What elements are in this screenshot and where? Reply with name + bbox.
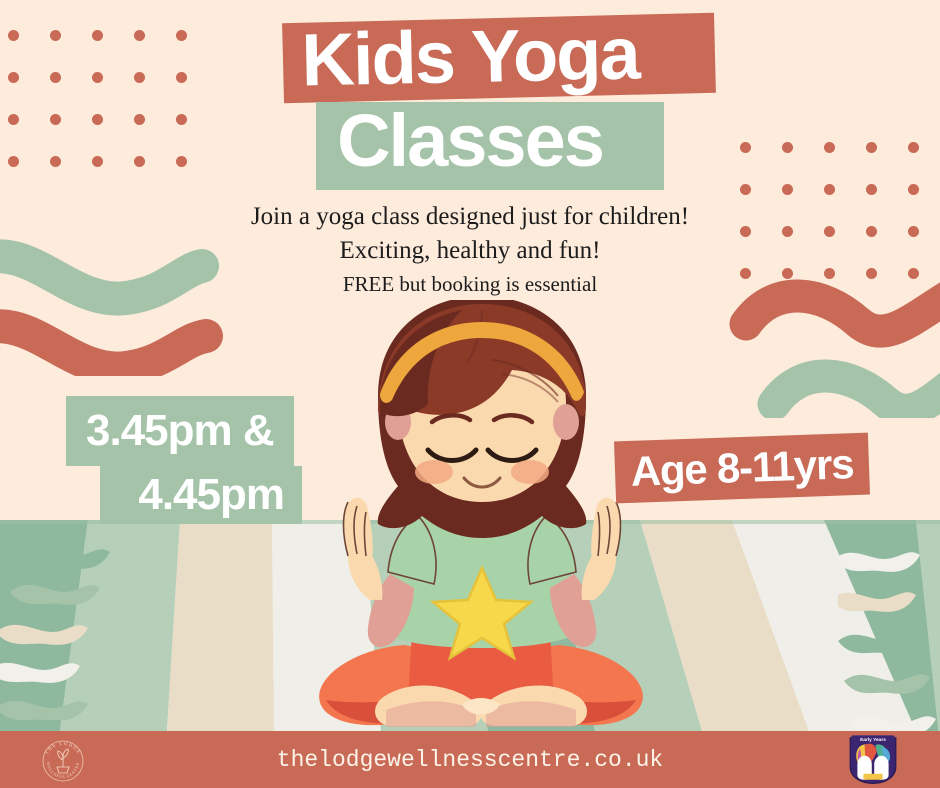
early-years-partner-logo: Early Years [842, 727, 904, 787]
early-years-logo-text: Early Years [860, 737, 886, 743]
class-time-badge-first: 3.45pm & [66, 396, 294, 466]
age-range-badge: Age 8-11yrs [614, 433, 870, 504]
mat-stripe [166, 520, 274, 745]
poster-canvas: .ln { stroke:#6E4637; stroke-width:1.6; … [0, 0, 940, 788]
class-time-badge-second: 4.45pm [100, 466, 302, 524]
footer-bar: THE LODGE WELLNESS CENTRE · thelodgewell… [0, 731, 940, 788]
the-lodge-wellness-centre-logo: THE LODGE WELLNESS CENTRE · [38, 736, 88, 786]
leaf-cloud-decoration-left [0, 540, 174, 720]
title-block: Kids Yoga Classes [0, 0, 940, 200]
subtitle-line-1: Join a yoga class designed just for chil… [0, 200, 940, 234]
cheek-right [511, 460, 549, 484]
page-title-line-1: Kids Yoga [0, 10, 940, 104]
subtitle-block: Join a yoga class designed just for chil… [0, 200, 940, 300]
subtitle-line-3: FREE but booking is essential [0, 268, 940, 300]
subtitle-line-2: Exciting, healthy and fun! [0, 234, 940, 268]
hand-right [591, 498, 620, 560]
ear-right [553, 404, 579, 440]
hand-left [344, 498, 373, 560]
cheek-left [415, 460, 453, 484]
leaf-cloud-decoration-right [838, 545, 940, 735]
page-title-line-2: Classes [0, 104, 940, 178]
website-url[interactable]: thelodgewellnesscentre.co.uk [277, 747, 663, 773]
meditating-girl-illustration: .ln { stroke:#6E4637; stroke-width:1.6; … [286, 300, 676, 730]
